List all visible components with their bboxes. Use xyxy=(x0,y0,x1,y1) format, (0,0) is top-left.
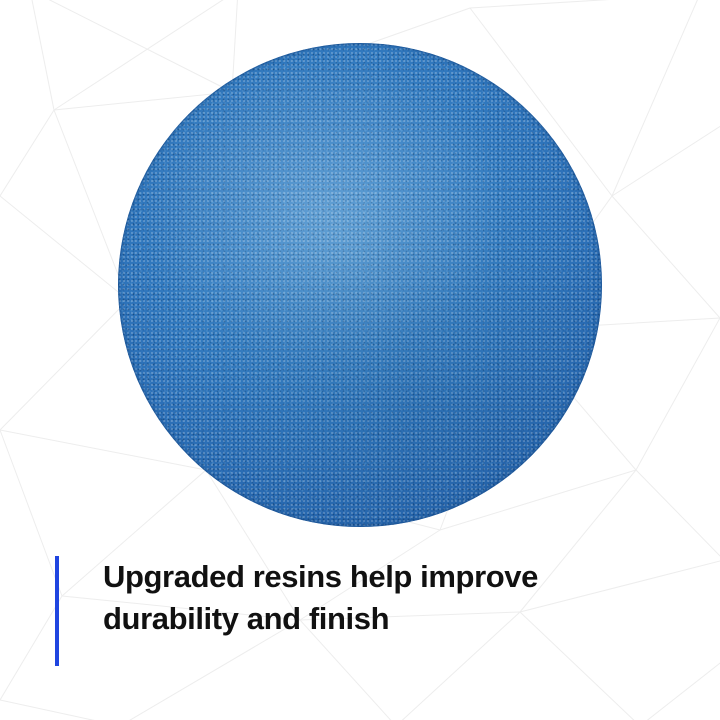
accent-bar xyxy=(55,556,59,666)
product-feature-card: Upgraded resins help improve durability … xyxy=(0,0,720,720)
feature-caption: Upgraded resins help improve durability … xyxy=(55,556,538,666)
feature-caption-text: Upgraded resins help improve durability … xyxy=(103,556,538,640)
product-image xyxy=(118,43,602,527)
disc-rim xyxy=(118,43,602,527)
sanding-disc xyxy=(118,43,602,527)
